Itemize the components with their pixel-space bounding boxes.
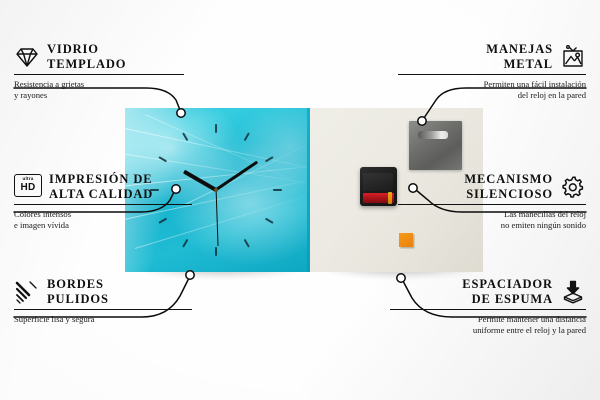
feature-header: BORDES PULIDOS: [14, 277, 192, 306]
divider: [14, 309, 192, 310]
feature-title: BORDES PULIDOS: [47, 277, 109, 306]
feature-desc: Permite mantener una distancia uniforme …: [390, 314, 586, 335]
infographic-canvas: VIDRIO TEMPLADO Resistencia a grietas y …: [0, 0, 600, 400]
gear-icon: [560, 174, 586, 200]
feature-desc: Permiten una fácil instalación del reloj…: [398, 79, 586, 100]
feature-header: ESPACIADOR DE ESPUMA: [390, 277, 586, 306]
feature-vidrio-templado: VIDRIO TEMPLADO Resistencia a grietas y …: [14, 42, 184, 101]
feature-bordes-pulidos: BORDES PULIDOS Superficie lisa y segura: [14, 277, 192, 325]
feature-desc: Resistencia a grietas y rayones: [14, 79, 184, 100]
feature-impresion-alta-calidad: ultra HD IMPRESIÓN DE ALTA CALIDAD Color…: [14, 172, 192, 231]
ultra-hd-icon: ultra HD: [14, 174, 42, 200]
picture-frame-icon: [560, 44, 586, 70]
feature-title: MANEJAS METAL: [486, 42, 553, 71]
ultra-hd-bottom-text: HD: [20, 183, 35, 193]
connector-dot-manejas: [418, 117, 426, 125]
foam-spacer-icon: [560, 279, 586, 305]
feature-espaciador-espuma: ESPACIADOR DE ESPUMA Permite mantener un…: [390, 277, 586, 336]
diamond-icon: [14, 44, 40, 70]
feature-title: MECANISMO SILENCIOSO: [464, 172, 553, 201]
feature-header: MANEJAS METAL: [398, 42, 586, 71]
divider: [14, 204, 192, 205]
divider: [14, 74, 184, 75]
feature-header: MECANISMO SILENCIOSO: [398, 172, 586, 201]
diagonal-stripes-icon: [14, 279, 40, 305]
feature-header: VIDRIO TEMPLADO: [14, 42, 184, 71]
feature-title: IMPRESIÓN DE ALTA CALIDAD: [49, 172, 153, 201]
feature-desc: Superficie lisa y segura: [14, 314, 192, 325]
feature-desc: Colores intensos e imagen vívida: [14, 209, 192, 230]
feature-title: ESPACIADOR DE ESPUMA: [462, 277, 553, 306]
connector-dot-vidrio: [177, 109, 185, 117]
feature-mecanismo-silencioso: MECANISMO SILENCIOSO Las manecillas del …: [398, 172, 586, 231]
feature-title: VIDRIO TEMPLADO: [47, 42, 126, 71]
divider: [390, 309, 586, 310]
divider: [398, 204, 586, 205]
feature-desc: Las manecillas del reloj no emiten ningú…: [398, 209, 586, 230]
divider: [398, 74, 586, 75]
feature-header: ultra HD IMPRESIÓN DE ALTA CALIDAD: [14, 172, 192, 201]
feature-manejas-metal: MANEJAS METAL Permiten una fácil instala…: [398, 42, 586, 101]
